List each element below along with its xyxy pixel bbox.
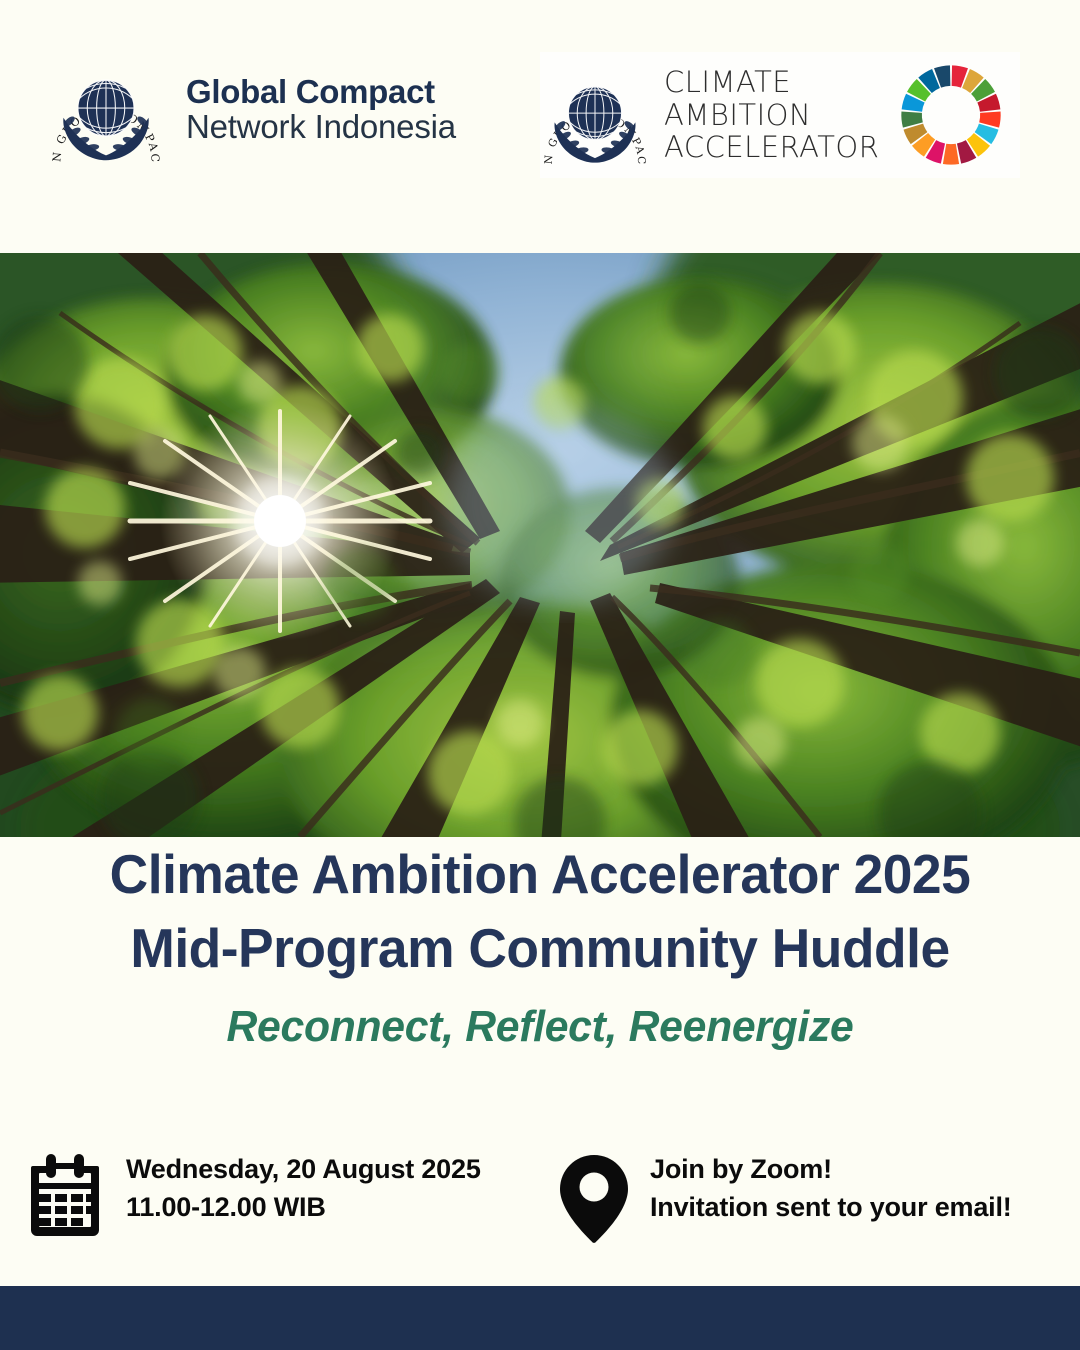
sdg-wheel-segment: [943, 144, 959, 165]
global-compact-network-indonesia-logo: UN GLOBAL COMPACT: [48, 52, 456, 168]
wordmark-line-global-compact: Global Compact: [186, 75, 456, 110]
wordmark-line-accelerator: ACCELERATOR: [664, 131, 879, 163]
un-global-compact-emblem: UN GLOBAL COMPACT: [48, 52, 164, 168]
event-time-line: 11.00-12.00 WIB: [126, 1188, 481, 1226]
climate-ambition-accelerator-wordmark: CLIMATE AMBITION ACCELERATOR: [664, 66, 879, 163]
calendar-icon: [24, 1152, 106, 1238]
logo-header-bar: UN GLOBAL COMPACT: [0, 0, 1080, 253]
event-date-text: Wednesday, 20 August 2025 11.00-12.00 WI…: [126, 1148, 481, 1227]
global-compact-wordmark: Global Compact Network Indonesia: [186, 75, 456, 145]
climate-ambition-accelerator-logo: UN GLOBAL COMPACT: [540, 52, 1020, 178]
title-line-1: Climate Ambition Accelerator 2025: [16, 837, 1064, 911]
event-tagline: Reconnect, Reflect, Reenergize: [16, 1002, 1064, 1052]
wordmark-line-climate: CLIMATE: [664, 66, 879, 98]
map-pin-icon: [558, 1152, 630, 1244]
un-global-compact-emblem: UN GLOBAL COMPACT: [540, 60, 650, 170]
event-date-line: Wednesday, 20 August 2025: [126, 1150, 481, 1188]
forest-canopy-illustration: [0, 253, 1080, 837]
event-details-row: Wednesday, 20 August 2025 11.00-12.00 WI…: [0, 1148, 1080, 1268]
join-method-line: Join by Zoom!: [650, 1150, 1012, 1188]
invitation-note-line: Invitation sent to your email!: [650, 1188, 1012, 1226]
event-location-text: Join by Zoom! Invitation sent to your em…: [650, 1148, 1012, 1227]
wordmark-line-ambition: AMBITION: [664, 99, 879, 131]
sdg-color-wheel: [897, 61, 1005, 169]
event-poster: UN GLOBAL COMPACT: [0, 0, 1080, 1350]
wordmark-line-network-indonesia: Network Indonesia: [186, 110, 456, 145]
forest-canopy-photo: [0, 253, 1080, 837]
title-line-2: Mid-Program Community Huddle: [16, 911, 1064, 985]
footer-bar: [0, 1286, 1080, 1350]
title-block: Climate Ambition Accelerator 2025 Mid-Pr…: [0, 837, 1080, 1052]
event-location-block: Join by Zoom! Invitation sent to your em…: [558, 1148, 1012, 1268]
event-date-block: Wednesday, 20 August 2025 11.00-12.00 WI…: [24, 1148, 544, 1268]
